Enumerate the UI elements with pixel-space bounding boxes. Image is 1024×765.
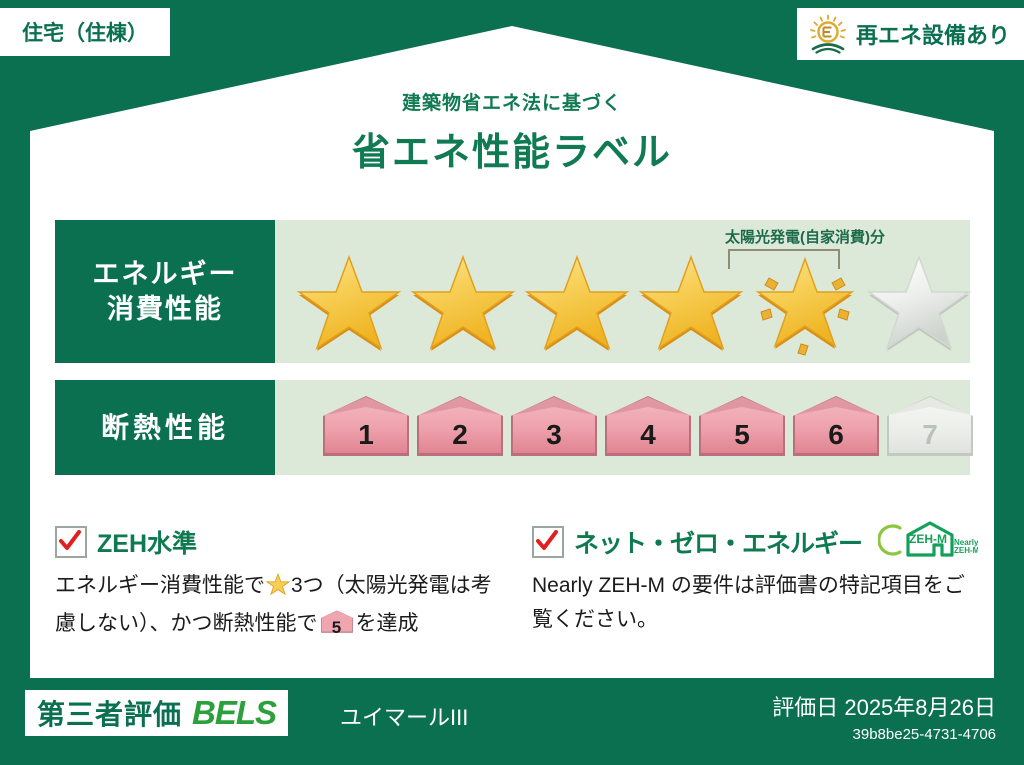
insulation-performance-row: 断熱性能 1 — [55, 380, 970, 475]
energy-label-line1: エネルギー — [93, 257, 238, 292]
insulation-performance-label-panel: 断熱性能 — [55, 380, 275, 475]
energy-performance-label: 住宅（住棟） 再エ — [0, 0, 1024, 765]
building-type-badge: 住宅（住棟） — [0, 8, 170, 56]
solar-annotation-label: 太陽光発電(自家消費)分 — [690, 226, 920, 247]
energy-performance-row: エネルギー 消費性能 太陽光発電(自家消費)分 — [55, 220, 970, 363]
building-name: ユイマールIII — [340, 700, 468, 732]
star-rating — [295, 252, 973, 356]
insulation-level-scale: 1 2 — [320, 392, 976, 462]
zeh-m-logo: ZEH-M Nearly ZEH-M — [878, 519, 978, 566]
insulation-label: 断熱性能 — [101, 410, 229, 446]
zeh-standard-description: エネルギー消費性能で3つ（太陽光発電は考慮しない）、かつ断熱性能で5を達成 — [55, 569, 498, 641]
insulation-level-4: 4 — [602, 392, 694, 462]
footer-bar: 第三者評価 BELS ユイマールIII 評価日 2025年8月26日 39b8b… — [0, 678, 1024, 765]
energy-label-line2: 消費性能 — [107, 292, 223, 327]
insulation-level-6: 6 — [790, 392, 882, 462]
energy-rating-content: 太陽光発電(自家消費)分 — [275, 220, 970, 363]
check-icon — [535, 529, 559, 553]
title-block: 建築物省エネ法に基づく 省エネ性能ラベル — [0, 88, 1024, 176]
insulation-rating-content: 1 2 — [275, 380, 970, 475]
zeh-m-logo-sub2: ZEH-M — [954, 546, 978, 555]
star-filled-1 — [295, 252, 403, 356]
solar-sun-icon — [807, 14, 849, 54]
evaluation-date: 評価日 2025年8月26日 — [772, 690, 996, 722]
insulation-level-7: 7 — [884, 392, 976, 462]
star-filled-2 — [409, 252, 517, 356]
zeh-desc-part1: エネルギー消費性能で — [55, 574, 265, 597]
insulation-level-3: 3 — [508, 392, 600, 462]
svg-text:ZEH-M: ZEH-M — [909, 532, 947, 546]
renewable-equipment-badge: 再エネ設備あり — [797, 8, 1024, 60]
star-icon-inline — [266, 578, 290, 601]
insulation-badge-inline-number: 5 — [320, 614, 354, 642]
bels-japanese-label: 第三者評価 — [37, 693, 182, 733]
criteria-zeh-header: ZEH水準 — [55, 525, 498, 559]
title-subtitle: 建築物省エネ法に基づく — [0, 88, 1024, 115]
insulation-badge-inline: 5 — [320, 609, 354, 635]
insulation-level-2: 2 — [414, 392, 506, 462]
zeh-standard-title: ZEH水準 — [97, 524, 197, 560]
insulation-level-5: 5 — [696, 392, 788, 462]
footer-evaluation-info: 評価日 2025年8月26日 39b8be25-4731-4706 — [772, 690, 996, 743]
energy-performance-label-panel: エネルギー 消費性能 — [55, 220, 275, 363]
zeh-desc-part3: を達成 — [356, 612, 419, 635]
bels-logo-text: BELS — [192, 694, 276, 732]
net-zero-energy-title: ネット・ゼロ・エネルギー — [574, 524, 862, 560]
bels-certification-box: 第三者評価 BELS — [25, 690, 288, 736]
star-filled-5-solar — [751, 252, 859, 356]
criteria-nze-header: ネット・ゼロ・エネルギー ZEH-M Nearly ZEH-M — [532, 525, 975, 559]
criteria-zeh-standard: ZEH水準 エネルギー消費性能で3つ（太陽光発電は考慮しない）、かつ断熱性能で5… — [55, 525, 498, 641]
star-filled-3 — [523, 252, 631, 356]
net-zero-energy-description: Nearly ZEH-M の要件は評価書の特記項目をご覧ください。 — [532, 569, 975, 637]
net-zero-energy-checkbox[interactable] — [532, 526, 564, 558]
page-title: 省エネ性能ラベル — [0, 121, 1024, 176]
criteria-net-zero-energy: ネット・ゼロ・エネルギー ZEH-M Nearly ZEH-M Nearly Z… — [532, 525, 975, 641]
criteria-section: ZEH水準 エネルギー消費性能で3つ（太陽光発電は考慮しない）、かつ断熱性能で5… — [55, 525, 975, 641]
renewable-equipment-label: 再エネ設備あり — [856, 18, 1010, 50]
zeh-standard-checkbox[interactable] — [55, 526, 87, 558]
insulation-level-1: 1 — [320, 392, 412, 462]
star-empty-6 — [865, 252, 973, 356]
evaluation-id: 39b8be25-4731-4706 — [772, 726, 996, 743]
building-type-label: 住宅（住棟） — [22, 17, 148, 47]
check-icon — [58, 529, 82, 553]
star-filled-4 — [637, 252, 745, 356]
